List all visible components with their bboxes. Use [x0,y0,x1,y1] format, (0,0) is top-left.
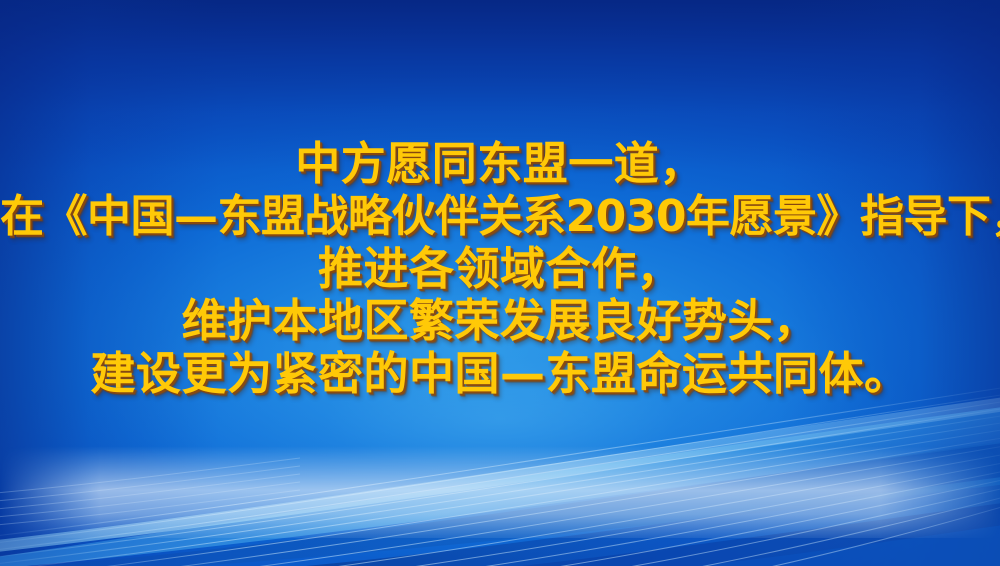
landmark-colonial-hall [742,418,820,516]
graphic-canvas: 中方愿同东盟一道， 在《中国—东盟战略伙伴关系2030年愿景》指导下， 推进各领… [0,0,1000,566]
landmark-angkor-wat [246,450,434,516]
headline-line-1: 中方愿同东盟一道， [0,138,1000,191]
landmark-shwedagon-pagoda [598,438,642,516]
headline-line-4: 维护本地区繁荣发展良好势头， [0,295,1000,348]
landmark-mosque [112,437,230,516]
headline-line-3: 推进各领域合作， [0,243,1000,296]
headline-line-5: 建设更为紧密的中国—东盟命运共同体。 [0,348,1000,401]
landmark-grand-palace [640,446,736,516]
landmark-temple-of-heaven [832,426,936,516]
headline-line-2: 在《中国—东盟战略伙伴关系2030年愿景》指导下， [0,191,1000,243]
skyline-silhouette [0,410,1000,520]
landmark-borobudur [440,447,550,516]
landmark-right-pagoda [928,472,960,516]
headline-block: 中方愿同东盟一道， 在《中国—东盟战略伙伴关系2030年愿景》指导下， 推进各领… [0,138,1000,401]
